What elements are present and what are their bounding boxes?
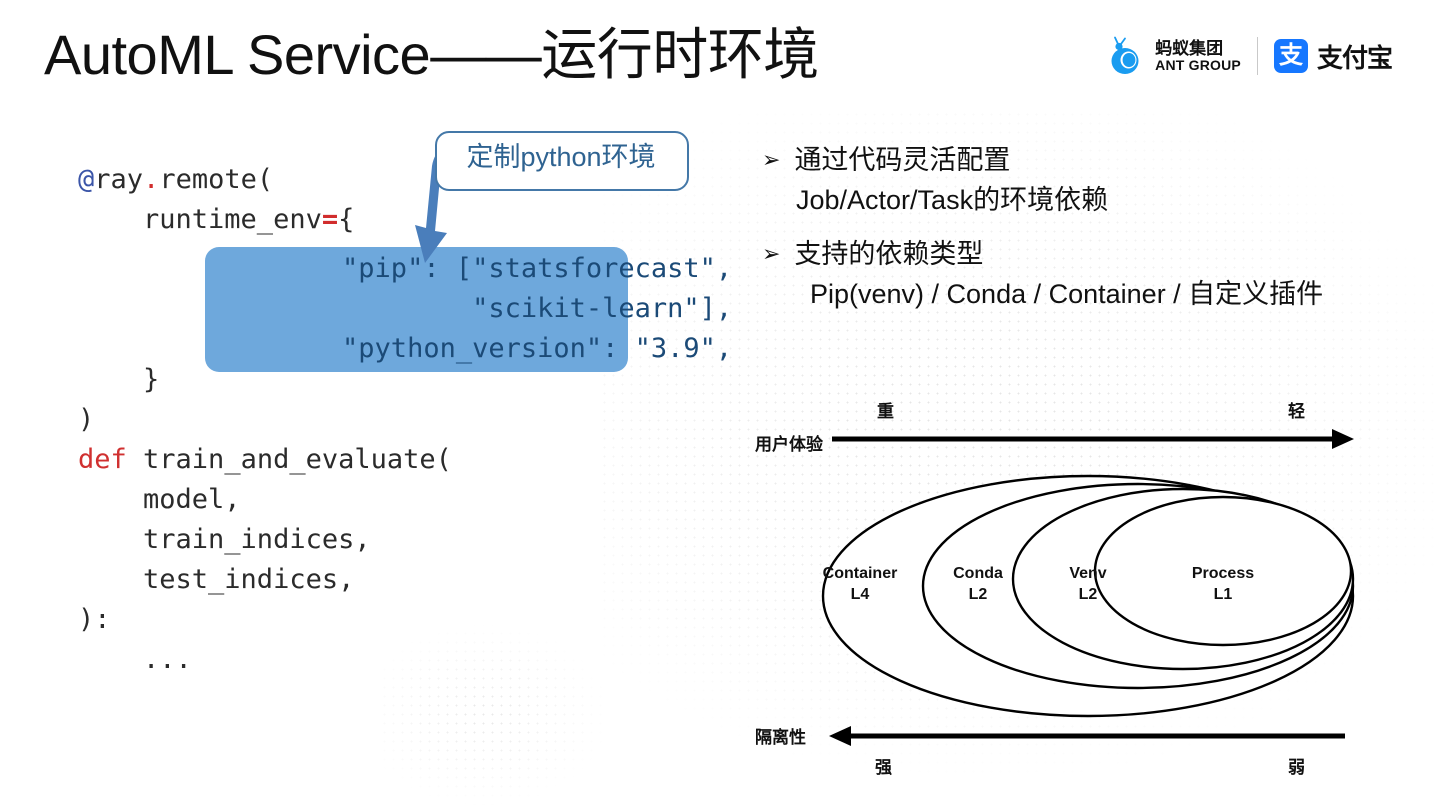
code-hl-line-3: "python_version": "3.9", [212,333,732,364]
bullet-2-title: 支持的依赖类型 [794,234,983,274]
alipay-wordmark: 支付宝 [1317,38,1392,75]
layer-label-venv: Venv L2 [1048,563,1128,605]
layer-name-process: Process [1168,563,1278,584]
code-equals: = [322,204,338,235]
bullet-spacer [762,220,1440,234]
bottom-axis-arrow-icon [829,726,1345,746]
code-paren-close: ) [78,404,94,435]
layer-level-conda: L2 [933,584,1023,605]
layer-label-conda: Conda L2 [933,563,1023,605]
bullet-1-title: 通过代码灵活配置 [794,140,1010,180]
layer-label-process: Process L1 [1168,563,1278,605]
code-arg-train-indices: train_indices, [78,524,371,555]
isolation-vs-ux-diagram: 用户体验 重 轻 隔离性 强 弱 Container L4 Conda L2 V… [740,385,1400,785]
layer-name-conda: Conda [933,563,1023,584]
code-ray: ray [94,164,143,195]
logo-bar: 蚂蚁集团 ANT GROUP 支 支付宝 [1106,36,1392,76]
layer-level-container: L4 [805,584,915,605]
layer-name-venv: Venv [1048,563,1128,584]
ant-group-logo-icon [1106,36,1146,76]
code-brace-open: { [338,204,354,235]
bullet-item-2: ➢ 支持的依赖类型 [762,234,1440,274]
layer-label-container: Container L4 [805,563,915,605]
bullet-arrow-icon: ➢ [762,140,780,180]
code-dot: . [143,164,159,195]
bullet-item-1: ➢ 通过代码灵活配置 [762,140,1440,180]
bullet-1-detail: Job/Actor/Task的环境依赖 [762,180,1440,220]
code-remote: remote( [159,164,273,195]
layer-level-process: L1 [1168,584,1278,605]
alipay-logo-icon: 支 [1274,39,1308,73]
bullet-2-detail: Pip(venv) / Conda / Container / 自定义插件 [762,274,1440,314]
code-ellipsis: ... [78,644,192,675]
code-decorator-at: @ [78,164,94,195]
ant-group-label-en: ANT GROUP [1155,58,1241,73]
alipay-logo: 支 支付宝 [1274,38,1392,75]
code-hl-line-2: "scikit-learn"], [212,293,732,324]
ant-group-label-cn: 蚂蚁集团 [1155,40,1241,58]
feature-bullet-list: ➢ 通过代码灵活配置 Job/Actor/Task的环境依赖 ➢ 支持的依赖类型… [762,140,1440,314]
layer-level-venv: L2 [1048,584,1128,605]
top-axis-arrow-icon [832,429,1354,449]
callout-label: 定制python环境 [447,138,675,177]
logo-divider [1257,37,1258,75]
code-def-keyword: def [78,444,127,475]
code-snippet: @ray.remote( runtime_env={ } ) def train… [78,160,452,680]
ant-group-wordmark: 蚂蚁集团 ANT GROUP [1155,40,1241,73]
code-func-name: train_and_evaluate( [127,444,452,475]
code-brace-close: } [78,364,159,395]
code-highlight-text: "pip": ["statsforecast", "scikit-learn"]… [212,249,732,369]
layer-name-container: Container [805,563,915,584]
code-runtime-env: runtime_env [78,204,322,235]
page-title: AutoML Service——运行时环境 [44,26,819,85]
code-signature-close: ): [78,604,111,635]
bullet-arrow-icon: ➢ [762,234,780,274]
ant-group-logo: 蚂蚁集团 ANT GROUP [1106,36,1241,76]
code-arg-model: model, [78,484,241,515]
code-arg-test-indices: test_indices, [78,564,354,595]
